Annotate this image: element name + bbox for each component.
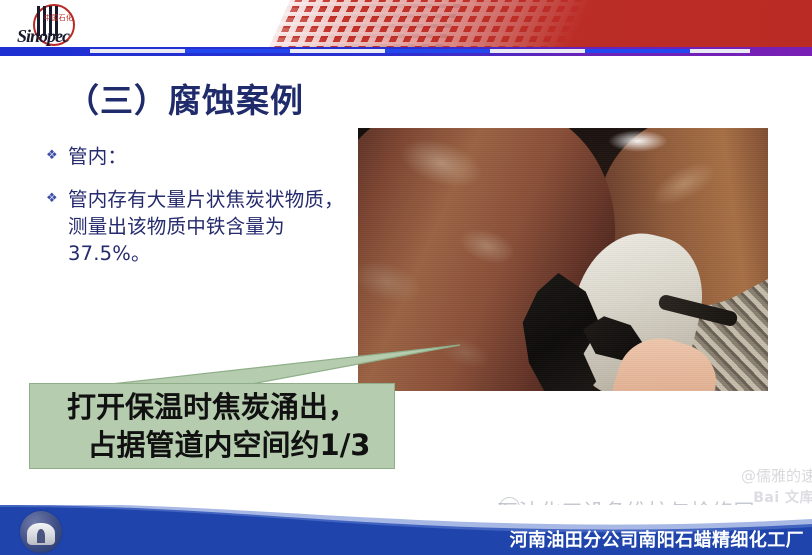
user-watermark: @儒雅的速 <box>741 465 812 486</box>
slide-header-banner: 中国石化 Sinopec <box>0 0 812 47</box>
banner-halftone-dots-white <box>236 0 594 47</box>
photo-light-highlight <box>608 130 668 152</box>
bullet-text: 管内： <box>68 143 356 170</box>
callout-line-1: 打开保温时焦炭涌出， <box>67 388 357 426</box>
footer-company-name: 河南油田分公司南阳石蜡精细化工厂 <box>510 526 804 552</box>
logo-chinese-name: 中国石化 <box>44 13 73 23</box>
diamond-bullet-icon: ❖ <box>46 186 68 204</box>
list-item: ❖ 管内存有大量片状焦炭状物质，测量出该物质中铁含量为37.5%。 <box>46 186 356 267</box>
slide-footer: 河南油田分公司南阳石蜡精细化工厂 <box>0 505 812 555</box>
diamond-bullet-icon: ❖ <box>46 143 68 161</box>
callout-line-2: 占据管道内空间约1/3 <box>54 426 371 464</box>
bullet-list: ❖ 管内： ❖ 管内存有大量片状焦炭状物质，测量出该物质中铁含量为37.5%。 <box>46 143 356 283</box>
list-item: ❖ 管内： <box>46 143 356 170</box>
corrosion-photo <box>358 128 768 391</box>
callout-box: 打开保温时焦炭涌出， 占据管道内空间约1/3 <box>29 383 395 469</box>
baidu-wenku-watermark: Bai 文库 <box>753 487 812 507</box>
sinopec-logo: 中国石化 Sinopec <box>14 2 100 46</box>
logo-wordmark: Sinopec <box>17 26 69 47</box>
slide-title: （三）腐蚀案例 <box>66 74 304 122</box>
bullet-text: 管内存有大量片状焦炭状物质，测量出该物质中铁含量为37.5%。 <box>68 186 356 267</box>
header-divider-bar <box>0 47 812 56</box>
presentation-slide: 中国石化 Sinopec （三）腐蚀案例 ❖ 管内： ❖ 管内存有大量片状焦炭状… <box>0 0 812 555</box>
footer-badge-icon <box>20 511 62 553</box>
